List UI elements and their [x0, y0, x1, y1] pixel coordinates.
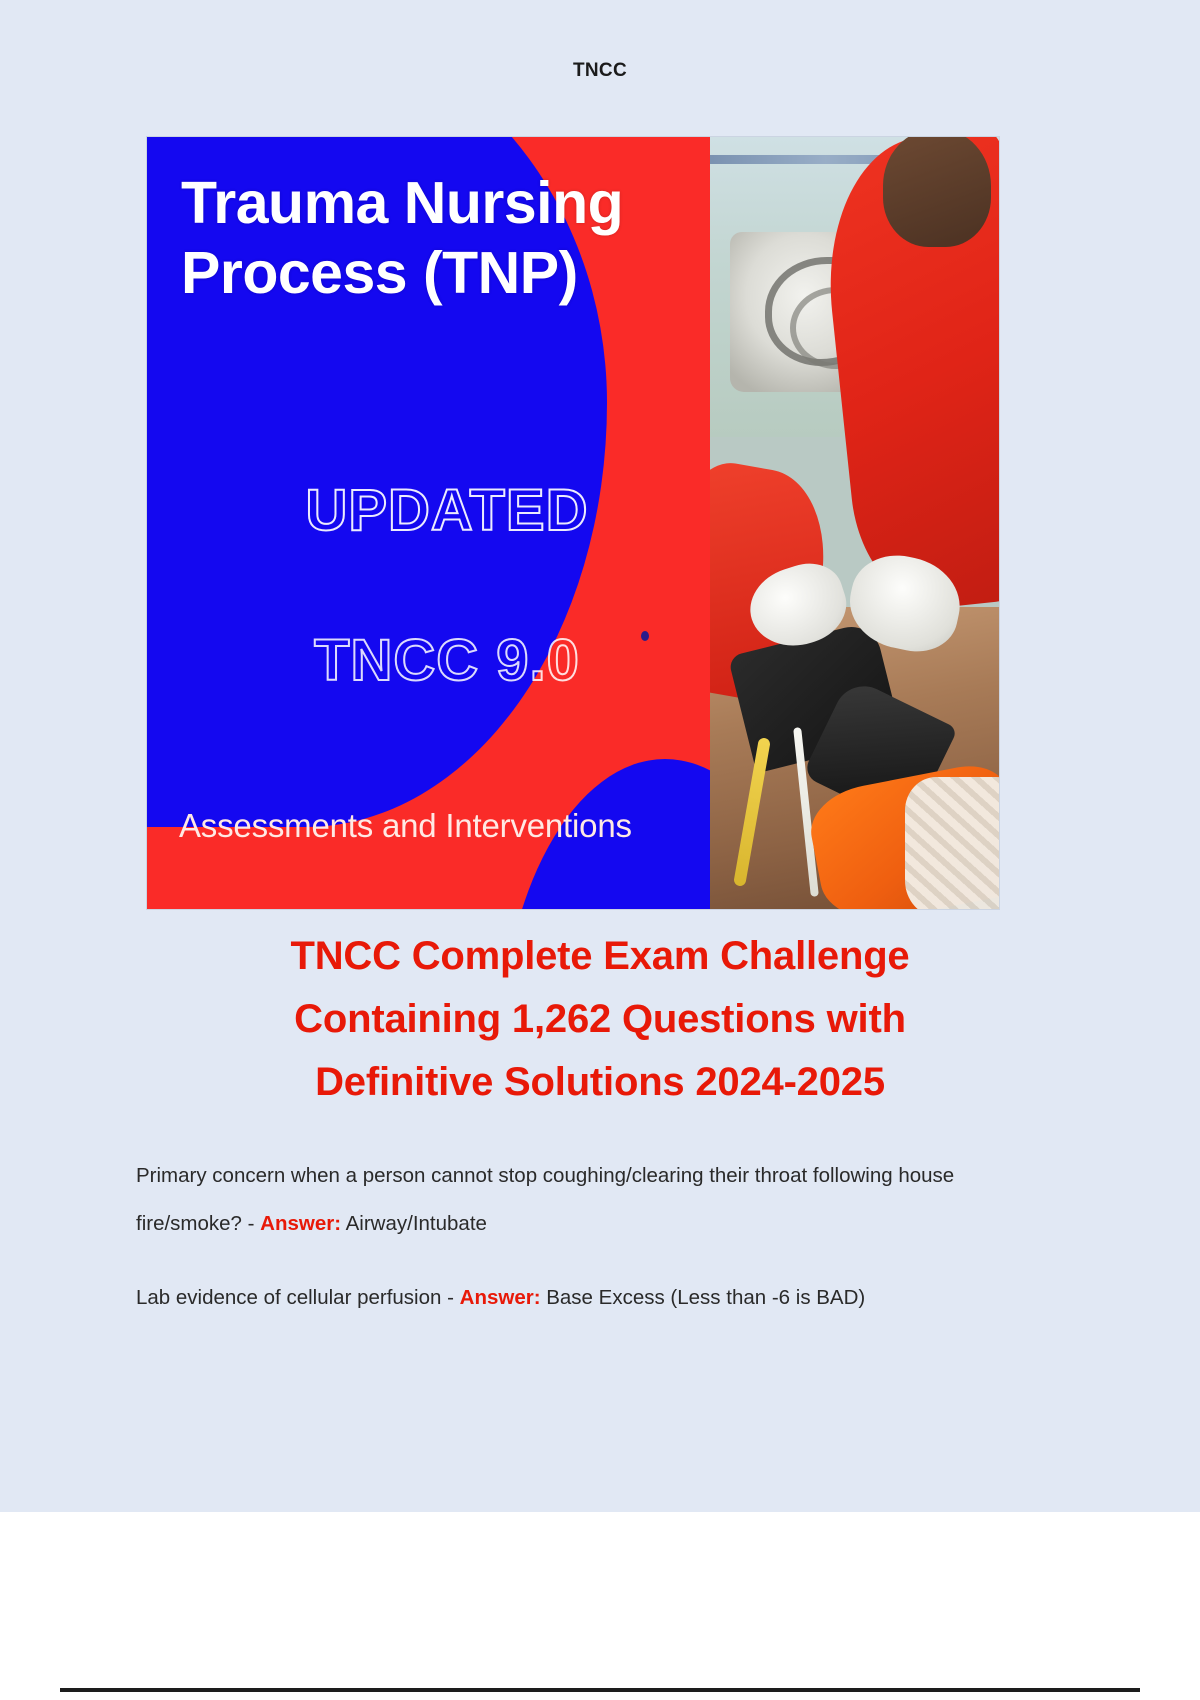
photo-medic-head: [883, 137, 991, 247]
footer-divider: [60, 1688, 1140, 1692]
qa-item: Primary concern when a person cannot sto…: [136, 1152, 1016, 1248]
qa-body: Primary concern when a person cannot sto…: [136, 1152, 1016, 1349]
cover-title: Trauma Nursing Process (TNP): [181, 169, 710, 308]
document-headline: TNCC Complete Exam Challenge Containing …: [150, 925, 1050, 1115]
decorative-dot: [641, 631, 649, 641]
headline-line-3: Definitive Solutions 2024-2025: [150, 1051, 1050, 1114]
qa-answer-label: Answer:: [260, 1212, 341, 1235]
cover-outline-updated: UPDATED: [197, 477, 697, 544]
photo-gauze: [905, 777, 999, 909]
cover-outline-version: TNCC 9.0: [197, 627, 697, 694]
headline-line-1: TNCC Complete Exam Challenge: [150, 925, 1050, 988]
qa-answer: Base Excess (Less than -6 is BAD): [541, 1286, 866, 1309]
cover-subtitle: Assessments and Interventions: [179, 807, 699, 845]
qa-answer: Airway/Intubate: [341, 1212, 487, 1235]
document-header-title: TNCC: [0, 60, 1200, 82]
cover-title-line-2: Process (TNP): [181, 239, 710, 309]
qa-question: Primary concern when a person cannot sto…: [136, 1164, 954, 1235]
qa-item: Lab evidence of cellular perfusion - Ans…: [136, 1274, 1016, 1322]
cover-graphic-panel: Trauma Nursing Process (TNP) UPDATED TNC…: [147, 137, 710, 909]
cover-title-line-1: Trauma Nursing: [181, 169, 710, 239]
qa-answer-label: Answer:: [460, 1286, 541, 1309]
qa-question: Lab evidence of cellular perfusion -: [136, 1286, 460, 1309]
cover-photo: [710, 137, 999, 909]
cover-image: Trauma Nursing Process (TNP) UPDATED TNC…: [147, 137, 999, 909]
headline-line-2: Containing 1,262 Questions with: [150, 988, 1050, 1051]
page-panel: TNCC Trauma Nursing Process (TNP) UPDATE…: [0, 0, 1200, 1512]
